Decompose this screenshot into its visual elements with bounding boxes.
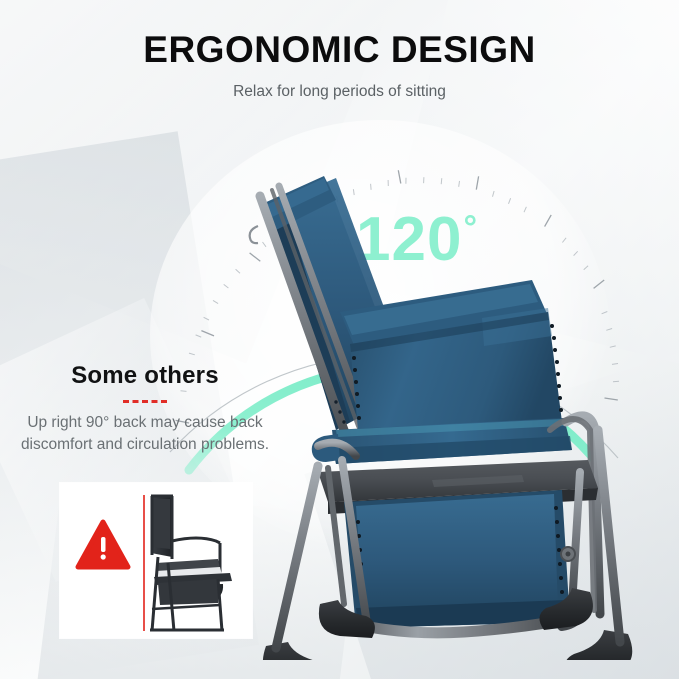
page-title: ERGONOMIC DESIGN (0, 30, 679, 71)
exclamation-dot (101, 554, 106, 559)
page-subtitle: Relax for long periods of sitting (0, 83, 679, 101)
infographic-canvas: ERGONOMIC DESIGN Relax for long periods … (0, 0, 679, 679)
comparison-heading: Some others (14, 362, 276, 390)
hinge-knob-center (566, 552, 571, 557)
product-image-reclining-chair (232, 130, 652, 660)
header: ERGONOMIC DESIGN Relax for long periods … (0, 30, 679, 101)
comparison-body: Up right 90° back may cause back discomf… (14, 412, 276, 456)
comparison-divider (123, 400, 167, 403)
recline-hook-icon (250, 226, 258, 243)
comparison-inset-card (60, 483, 252, 638)
lower-rear-panel-face (356, 494, 558, 618)
warning-triangle-icon (78, 522, 128, 567)
comparison-callout: Some others Up right 90° back may cause … (14, 362, 276, 456)
upright-chair-silhouette (150, 496, 232, 631)
leg-front-outer (276, 466, 318, 648)
exclamation-bar (101, 537, 106, 552)
